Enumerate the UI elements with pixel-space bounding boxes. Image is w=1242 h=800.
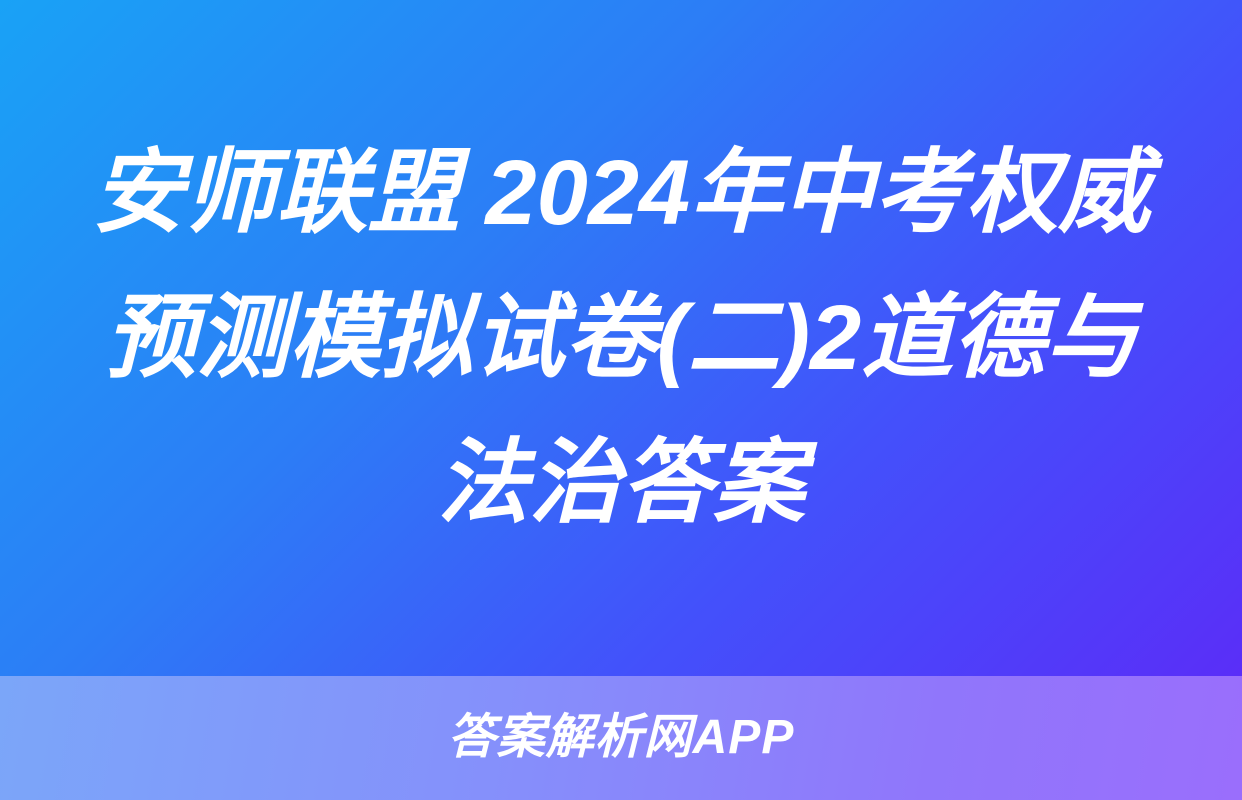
- footer-watermark-bar: 答案解析网APP: [0, 676, 1242, 800]
- page-title: 安师联盟 2024年中考权威预测模拟试卷(二)2道德与法治答案: [81, 121, 1161, 556]
- app-watermark-label: 答案解析网APP: [448, 710, 795, 766]
- banner-card: 安师联盟 2024年中考权威预测模拟试卷(二)2道德与法治答案 答案解析网APP: [0, 0, 1242, 800]
- hero-gradient-area: 安师联盟 2024年中考权威预测模拟试卷(二)2道德与法治答案: [0, 0, 1242, 676]
